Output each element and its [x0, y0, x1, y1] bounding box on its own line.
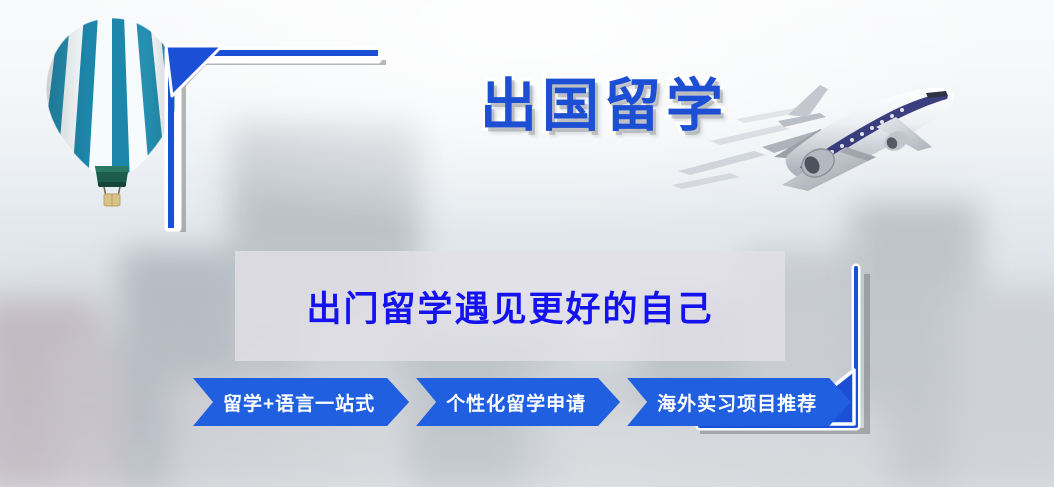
- airplane-icon: [670, 55, 970, 205]
- feature-tag-3-label: 海外实习项目推荐: [657, 389, 817, 416]
- feature-tag-3[interactable]: 海外实习项目推荐: [627, 378, 851, 426]
- feature-tag-2-label: 个性化留学申请: [446, 389, 586, 416]
- feature-tag-1[interactable]: 留学+语言一站式: [193, 378, 409, 426]
- top-left-corner-bracket: [160, 34, 390, 239]
- study-abroad-banner: 出国留学: [0, 0, 1054, 487]
- feature-tag-2[interactable]: 个性化留学申请: [416, 378, 620, 426]
- feature-tag-1-label: 留学+语言一站式: [223, 389, 375, 416]
- feature-tag-row: 留学+语言一站式 个性化留学申请 海外实习项目推荐: [193, 378, 851, 426]
